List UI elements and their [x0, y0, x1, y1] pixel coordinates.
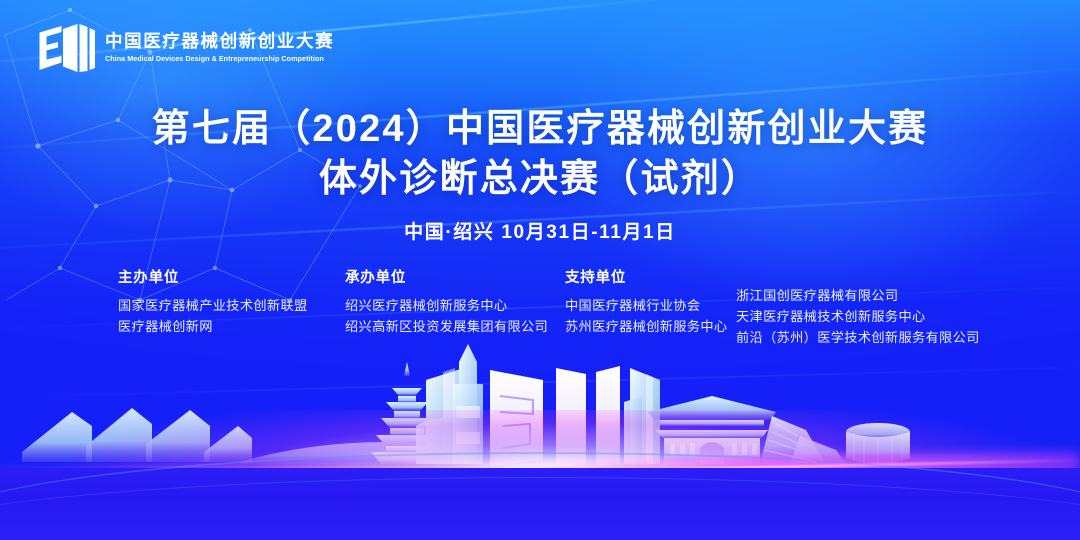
- organizer-heading-support: 支持单位: [565, 266, 727, 287]
- organizer-column-undertaker: 承办单位 绍兴医疗器械创新服务中心 绍兴高新区投资发展集团有限公司: [345, 266, 548, 338]
- logo-chinese-name: 中国医疗器械创新创业大赛: [105, 32, 334, 52]
- competition-emblem-icon: [490, 366, 620, 466]
- organizer-heading-undertaker: 承办单位: [345, 266, 548, 287]
- spire-tower-icon: [453, 344, 483, 464]
- organizer-item: 浙江国创医疗器械有限公司: [736, 286, 980, 307]
- stepped-stadium-icon: [760, 416, 846, 464]
- shaoxing-opera-roofs-icon: [22, 408, 252, 462]
- conference-banner: 中国医疗器械创新创业大赛 China Medical Devices Desig…: [0, 0, 1080, 540]
- title-block: 第七届（2024）中国医疗器械创新创业大赛 体外诊断总决赛（试剂） 中国·绍兴 …: [0, 104, 1080, 244]
- round-arena-icon: [846, 423, 910, 465]
- open-book-door-emblem-icon: [38, 22, 96, 74]
- place-and-date: 中国·绍兴 10月31日-11月1日: [0, 217, 1080, 244]
- organizer-heading-host: 主办单位: [118, 266, 308, 287]
- organizer-item: 医疗器械创新网: [118, 317, 308, 338]
- logo-english-name: China Medical Devices Design & Entrepren…: [105, 55, 327, 64]
- page-title-line2: 体外诊断总决赛（试剂）: [0, 154, 1080, 204]
- organizer-item: 天津医疗器械技术创新服务中心: [736, 307, 980, 328]
- organizer-column-host: 主办单位 国家医疗器械产业技术创新联盟 医疗器械创新网: [118, 266, 308, 338]
- event-logo: 中国医疗器械创新创业大赛 China Medical Devices Desig…: [38, 22, 334, 74]
- organizer-item: 绍兴高新区投资发展集团有限公司: [345, 317, 548, 338]
- organizer-column-support: 支持单位 中国医疗器械行业协会 苏州医疗器械创新服务中心: [565, 266, 727, 338]
- chinese-gate-tower-icon: [648, 396, 776, 464]
- organizer-item: 绍兴医疗器械创新服务中心: [345, 296, 548, 317]
- organizer-item: 中国医疗器械行业协会: [565, 296, 727, 317]
- city-skyline-scene: [0, 340, 1080, 540]
- organizer-item: 国家医疗器械产业技术创新联盟: [118, 296, 308, 317]
- organizer-item: 苏州医疗器械创新服务中心: [565, 317, 727, 338]
- page-title-line1: 第七届（2024）中国医疗器械创新创业大赛: [0, 104, 1080, 154]
